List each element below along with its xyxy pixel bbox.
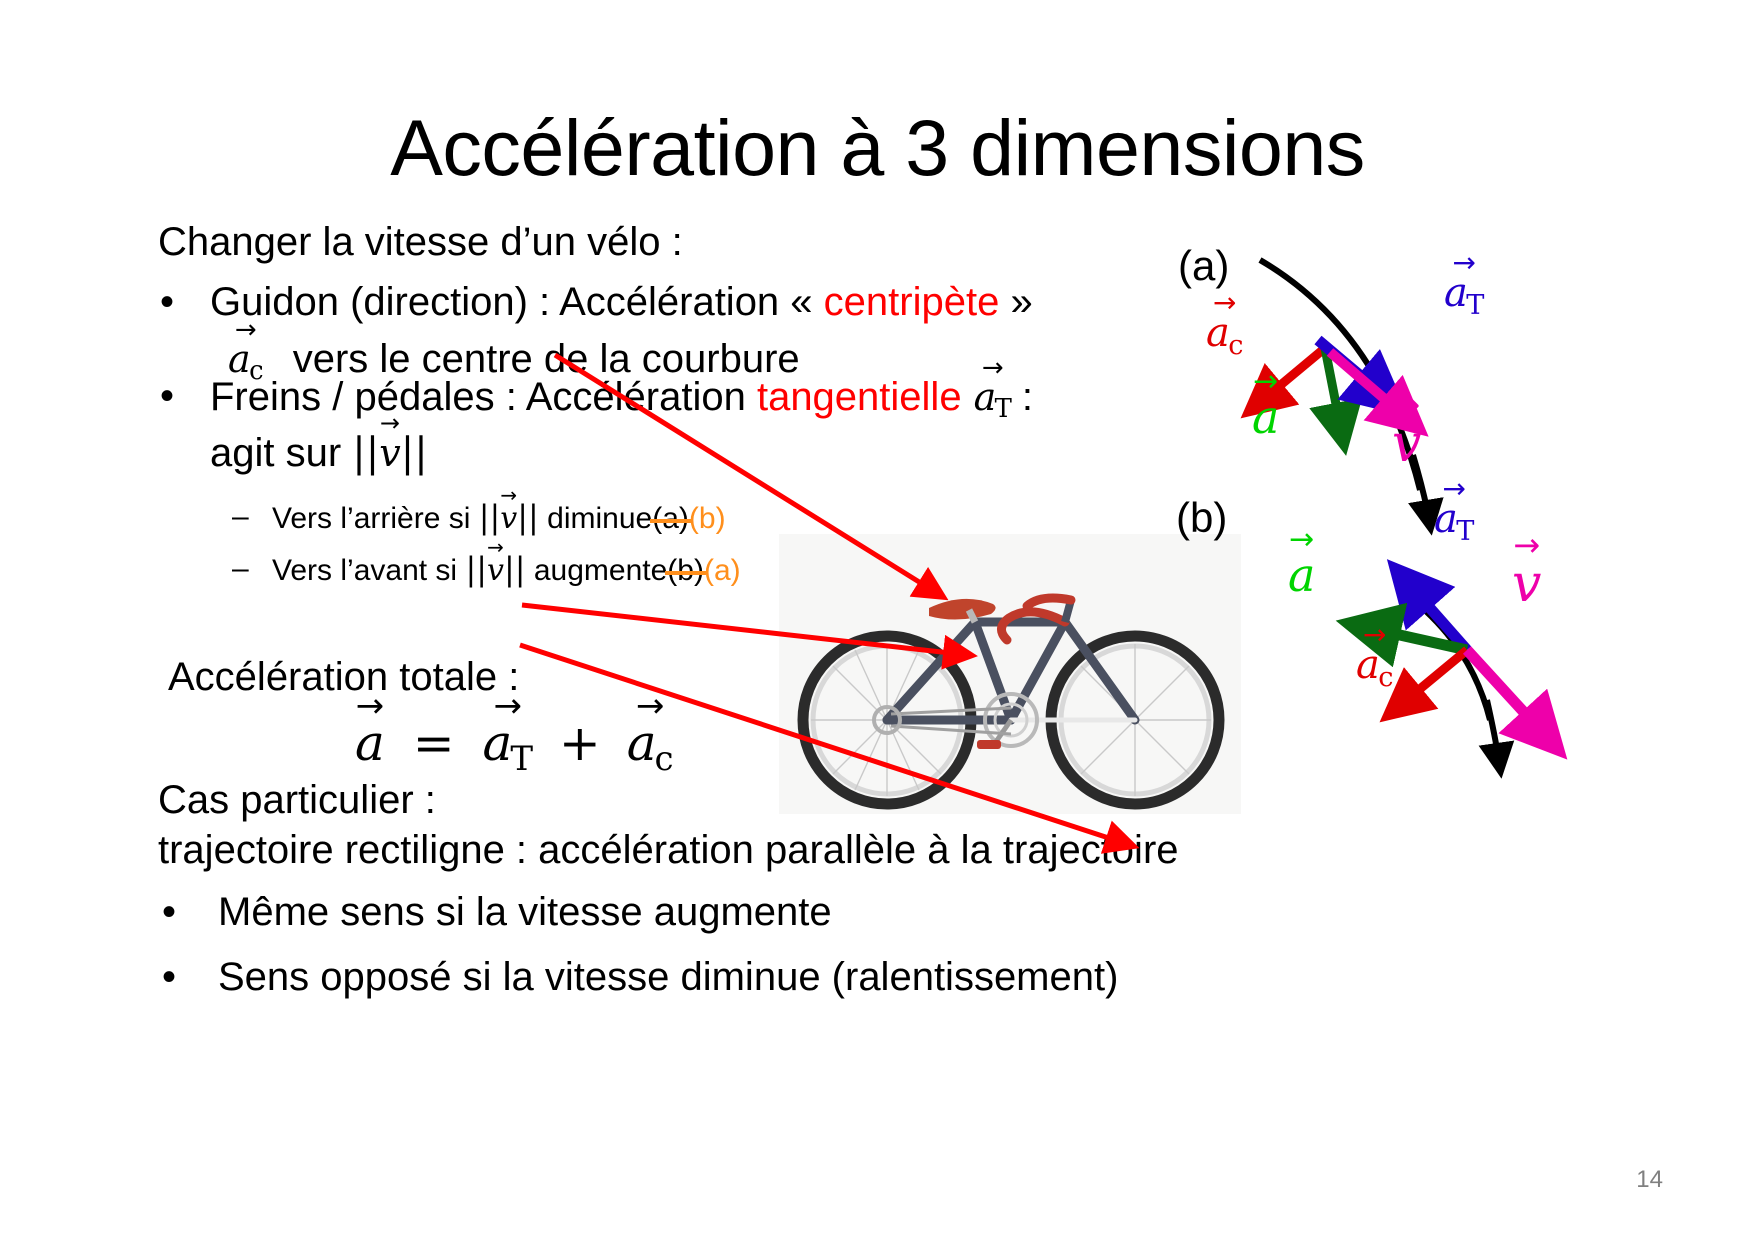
diagram-a-label-v: →v [1392, 412, 1421, 474]
special-case-line-1: Cas particulier : [158, 778, 436, 823]
vector-v-inline: →v [379, 430, 400, 475]
sub-1-struck-label: (a) [652, 502, 689, 535]
diagram-a-label-a: →a [1252, 388, 1279, 444]
sub-bullet-marker: – [232, 552, 249, 586]
norm-bars-open: || [352, 430, 379, 476]
sub-bullet-1: Vers l’arrière si ||→v|| diminue(a)(b) [272, 500, 726, 536]
norm-bars-open: || [465, 550, 487, 588]
diagram-a-label-ac: →ac [1206, 308, 1243, 361]
bullet-4-text: Sens opposé si la vitesse diminue (ralen… [218, 955, 1118, 1000]
special-case-line-2: trajectoire rectiligne : accélération pa… [158, 828, 1179, 873]
bullet-2-text-after: : [1022, 375, 1033, 419]
bullet-2-line-1: Freins / pédales : Accélération tangenti… [210, 374, 1033, 424]
sub-bullet-marker: – [232, 500, 249, 534]
bicycle-photo [779, 534, 1241, 814]
vector-aT-inline: →aT [974, 374, 1012, 424]
bullet-2-highlight: tangentielle [757, 375, 962, 419]
bullet-marker: • [162, 955, 176, 1000]
bullet-2-text-before: Freins / pédales : Accélération [210, 375, 757, 419]
vector-aT-arrow-a [1318, 340, 1394, 404]
total-acceleration-heading: Accélération totale : [168, 655, 519, 700]
diagram-b-caption: (b) [1176, 494, 1227, 542]
bullet-marker: • [160, 280, 174, 325]
trajectory-path-b [1400, 590, 1490, 720]
diagram-b-label-v: →v [1512, 552, 1541, 614]
vector-a-arrow-a [1325, 348, 1343, 440]
total-acceleration-equation: →a = →aT + →ac [355, 712, 674, 779]
trajectory-arrowhead-b [1487, 700, 1500, 768]
equation-plus: + [559, 714, 601, 772]
bicycle-illustration [779, 534, 1241, 814]
bullet-marker: • [162, 890, 176, 935]
bullet-marker: • [160, 374, 174, 419]
bullet-3-text: Même sens si la vitesse augmente [218, 890, 832, 935]
equation-vector-aT: →aT [483, 712, 533, 779]
norm-bars-close: || [401, 430, 428, 476]
sub-2-text-before: Vers l’avant si [272, 554, 457, 587]
vector-aT-arrow-b [1400, 574, 1467, 650]
vector-v-arrow-b [1467, 650, 1554, 745]
sub-1-new-label: (b) [689, 502, 726, 535]
bullet-2-line-2-prefix: agit sur [210, 431, 341, 475]
bullet-1-line-1: Guidon (direction) : Accélération « cent… [210, 280, 1033, 325]
norm-bars-close: || [517, 498, 539, 536]
bullet-1-highlight: centripète [824, 280, 1000, 324]
diagram-b-label-a: →a [1288, 546, 1315, 602]
equation-vector-ac: →ac [627, 712, 674, 779]
norm-bars-open: || [479, 498, 501, 536]
diagram-b-label-aT: →aT [1434, 494, 1474, 547]
equation-equals: = [413, 714, 455, 772]
diagram-a-caption: (a) [1178, 242, 1229, 290]
vector-ac-arrow-b [1392, 650, 1467, 712]
bullet-1-text-after: » [999, 280, 1032, 324]
vector-v-inline: →v [487, 552, 504, 588]
sub-bullet-2: Vers l’avant si ||→v|| augmente(b)(a) [272, 552, 741, 588]
bullet-2-line-2: agit sur ||→v|| [210, 430, 428, 476]
sub-2-new-label: (a) [704, 554, 741, 587]
slide-canvas: Accélération à 3 dimensions [0, 0, 1755, 1240]
sub-2-struck-label: (b) [667, 554, 704, 587]
sub-2-text-after: augmente [534, 554, 667, 587]
diagram-a-label-aT: →aT [1444, 268, 1484, 321]
sub-1-text-after: diminue [547, 502, 652, 535]
norm-bars-close: || [504, 550, 526, 588]
bullet-1-text-before: Guidon (direction) : Accélération « [210, 280, 824, 324]
page-number: 14 [1636, 1166, 1663, 1194]
equation-vector-a: →a [355, 712, 385, 772]
vector-v-inline: →v [500, 500, 517, 536]
page-title: Accélération à 3 dimensions [0, 108, 1755, 187]
diagram-b-label-ac: →ac [1356, 640, 1393, 693]
lead-line: Changer la vitesse d’un vélo : [158, 220, 683, 265]
sub-1-text-before: Vers l’arrière si [272, 502, 470, 535]
